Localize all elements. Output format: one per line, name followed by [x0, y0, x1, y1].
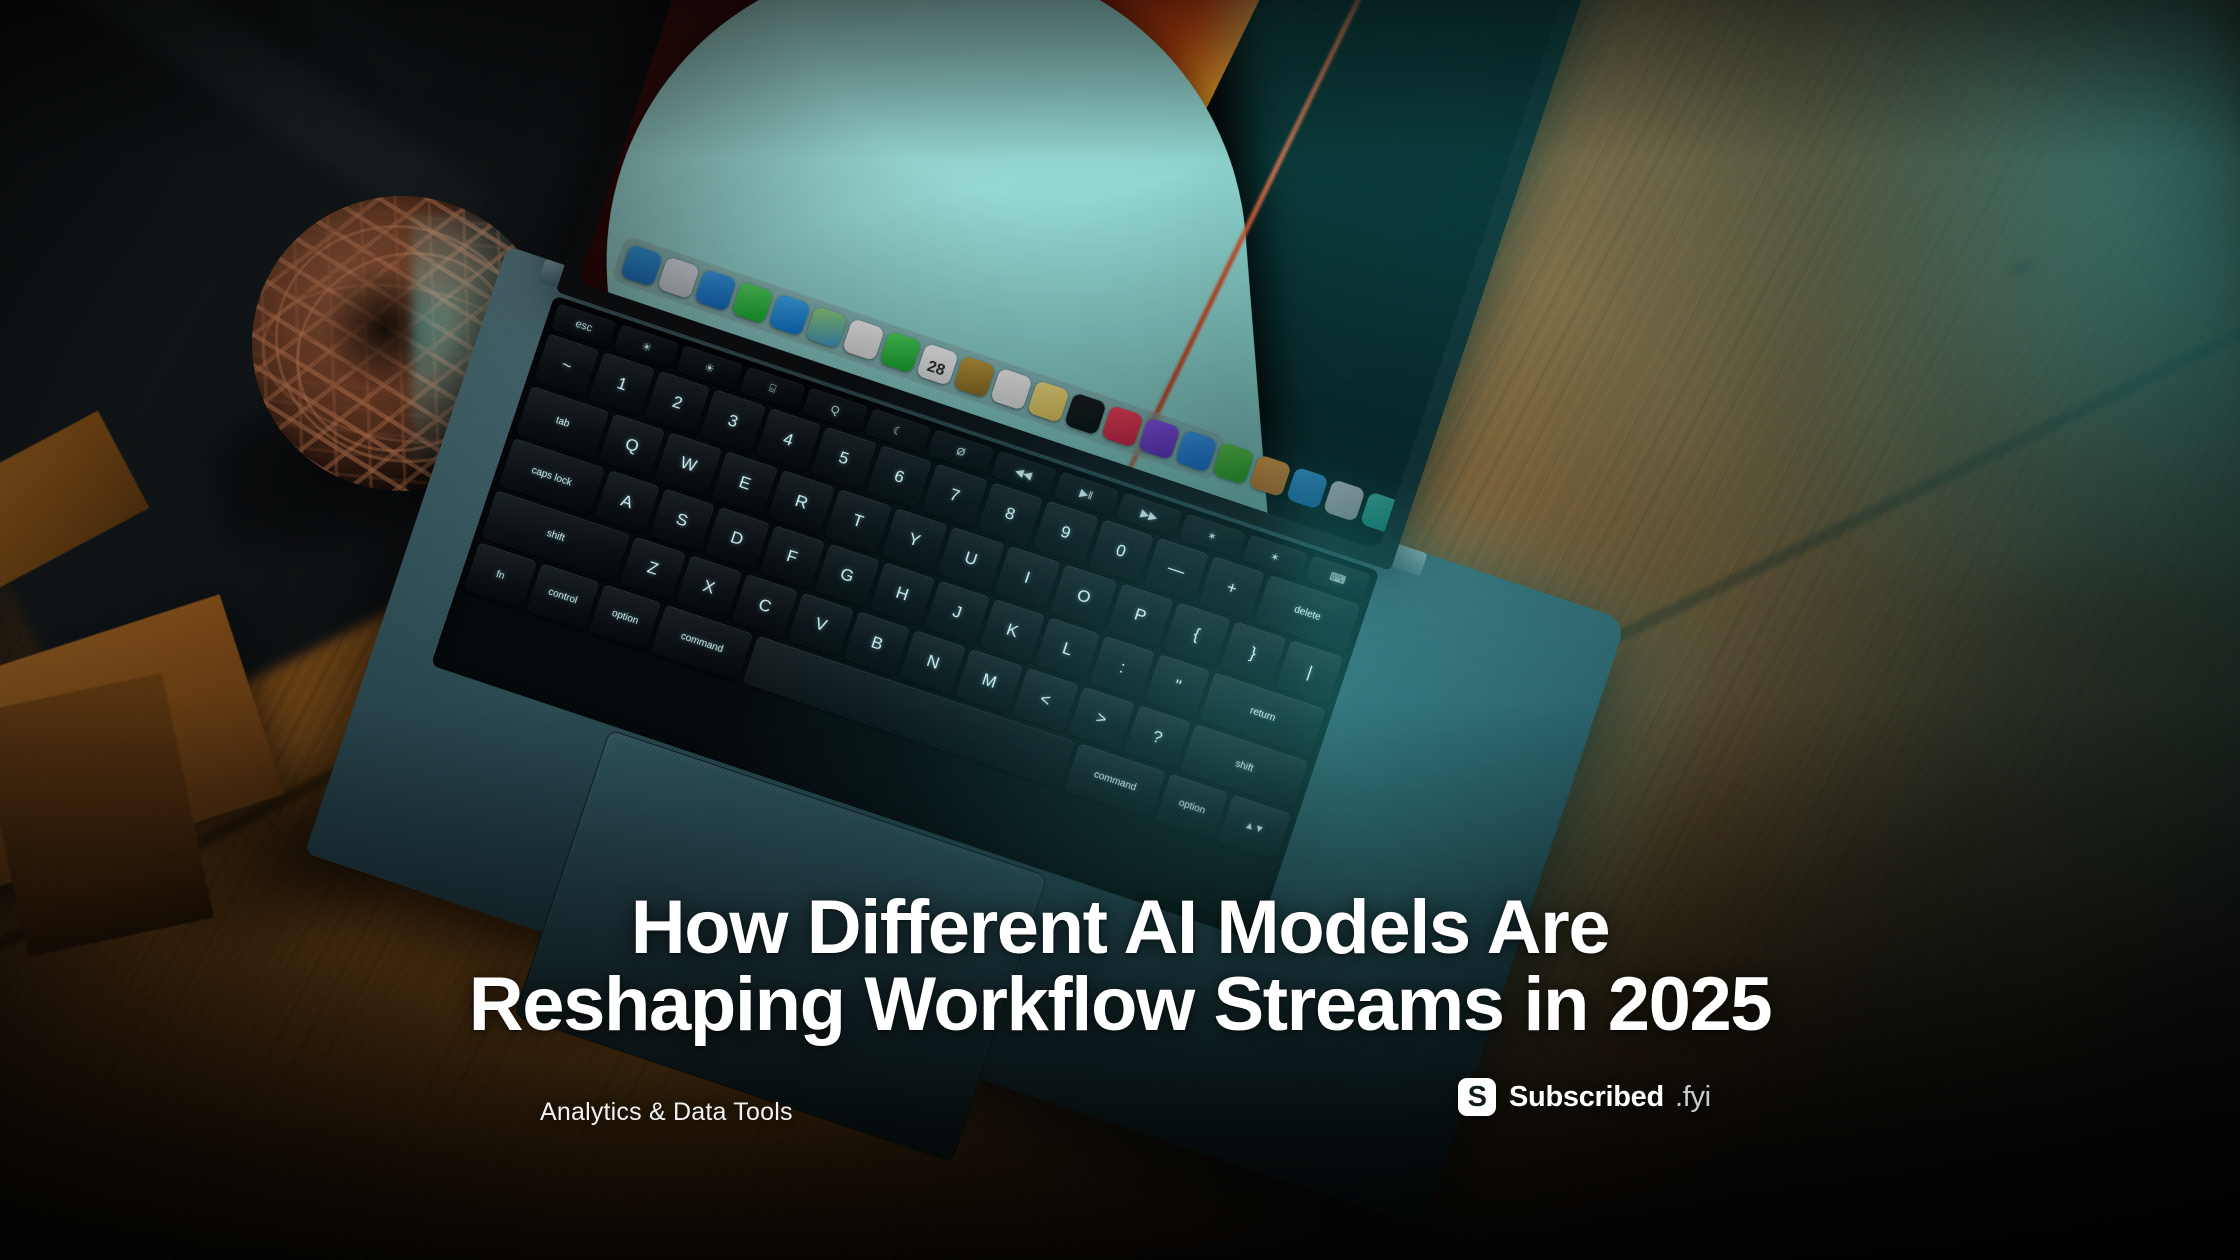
- brand-logo[interactable]: S Subscribed .fyi: [1458, 1078, 1711, 1116]
- page-title-line-2: Reshaping Workflow Streams in 2025: [180, 966, 2060, 1044]
- brand-mark-letter: S: [1468, 1083, 1487, 1112]
- hero-card: esc ☀ ☀ ⌸ Q ☾ Ø ◀◀ ▶‖ ▶▶ ✶ ✶ ⌨ ~ 1: [0, 0, 2240, 1260]
- hero-text-overlay: How Different AI Models Are Reshaping Wo…: [0, 0, 2240, 1260]
- brand-name: Subscribed: [1509, 1081, 1664, 1114]
- page-title-line-1: How Different AI Models Are: [180, 889, 2060, 967]
- brand-mark-icon: S: [1458, 1078, 1496, 1116]
- brand-tld: .fyi: [1675, 1081, 1711, 1114]
- category-label: Analytics & Data Tools: [540, 1098, 793, 1127]
- page-title: How Different AI Models Are Reshaping Wo…: [0, 889, 2240, 1044]
